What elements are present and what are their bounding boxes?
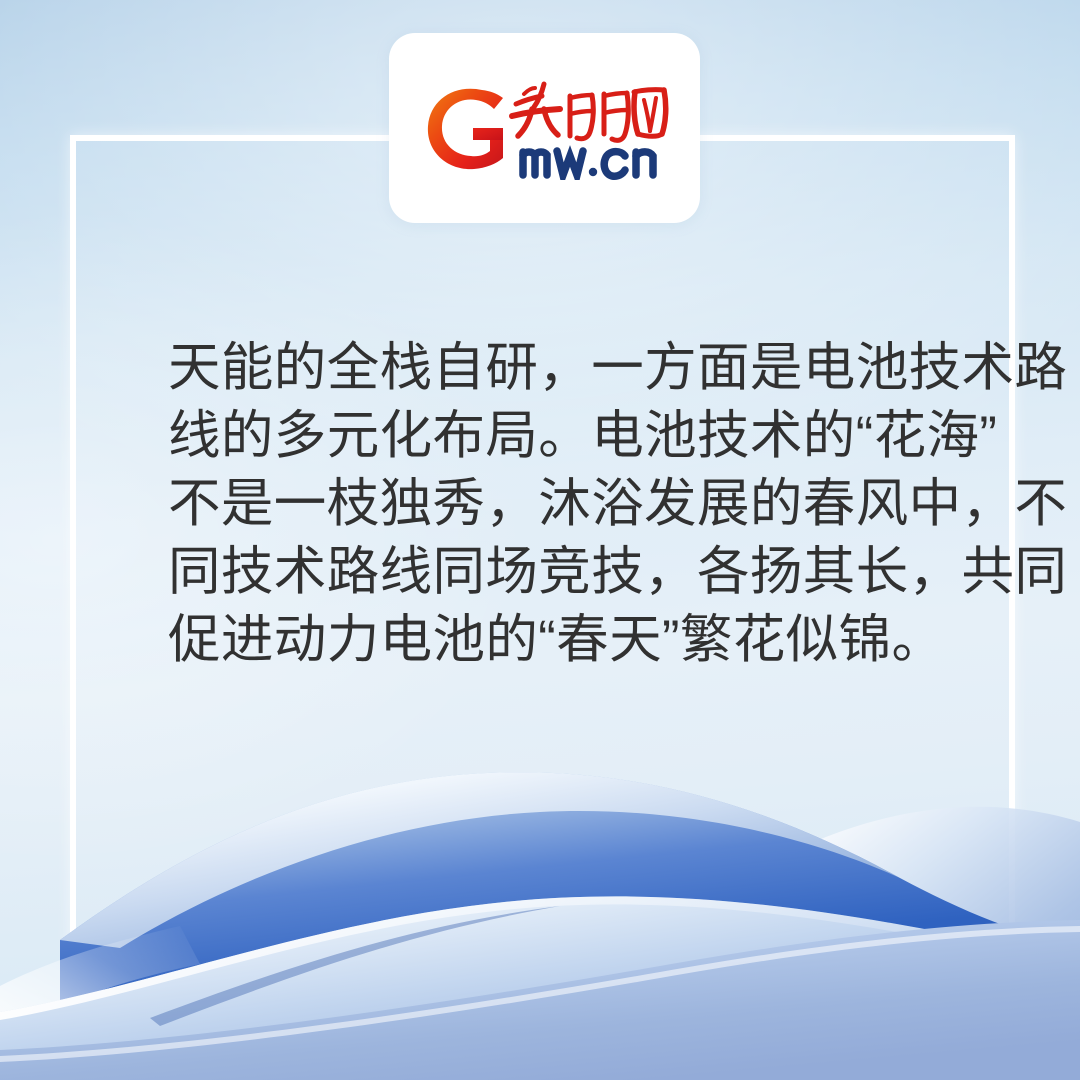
quote-paragraph: 天能的全栈自研，一方面是电池技术路 线的多元化布局。电池技术的“花海” 不是一枝… (168, 334, 958, 674)
guangming-logo (420, 76, 670, 180)
quote-line: 线的多元化布局。电池技术的“花海” (168, 402, 958, 470)
guangming-logo-card[interactable] (389, 33, 700, 223)
quote-line: 同技术路线同场竞技，各扬其长，共同 (168, 538, 958, 606)
quote-line: 不是一枝独秀，沐浴发展的春风中，不 (168, 470, 958, 538)
quote-line: 天能的全栈自研，一方面是电池技术路 (168, 334, 958, 402)
poster-canvas: 天能的全栈自研，一方面是电池技术路 线的多元化布局。电池技术的“花海” 不是一枝… (0, 0, 1080, 1080)
quote-line: 促进动力电池的“春天”繁花似锦。 (168, 606, 958, 674)
decorative-wave-graphic (0, 750, 1080, 1080)
